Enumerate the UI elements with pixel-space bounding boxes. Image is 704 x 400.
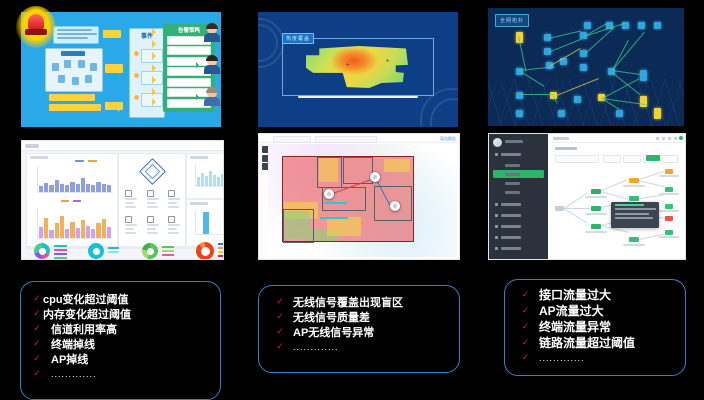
- traffic-alerts: ✓ 接口流量过大 ✓ AP流量过大 ✓ 终端流量异常 ✓ 链路流量超过阈值 ✓ …: [504, 279, 686, 376]
- check-icon: ✓: [273, 296, 287, 307]
- network-topology-app[interactable]: [488, 133, 686, 260]
- avatar: [204, 56, 220, 74]
- alert-item: ✓ AP掉线: [31, 351, 131, 366]
- check-icon: ✓: [31, 368, 43, 379]
- tree-node-error[interactable]: [665, 216, 673, 221]
- sidebar-item-settings[interactable]: [493, 233, 544, 241]
- tree-node-leaf[interactable]: [665, 169, 673, 174]
- sidebar-item-devices[interactable]: [493, 161, 544, 169]
- alert-item-ellipsis: ✓ .............: [31, 366, 131, 381]
- tree-node[interactable]: [629, 237, 639, 242]
- alert-item: ✓ 终端流量异常: [519, 318, 635, 334]
- stage-label-3: [49, 94, 95, 101]
- ellipsis-text: .............: [51, 369, 97, 379]
- alert-item: ✓ cpu变化超过阈值: [31, 291, 131, 306]
- topology-tag: 全网拓扑: [495, 14, 529, 27]
- topology-filter-bar[interactable]: [555, 155, 678, 161]
- access-point[interactable]: [390, 201, 400, 211]
- donut-group-2[interactable]: [88, 243, 104, 259]
- wifi-heatmap-slide: 热度覆盖 ✛ ✛ ✛: [258, 12, 458, 127]
- alert-text: 接口流量过大: [539, 286, 611, 303]
- siren-alarm-icon: [16, 6, 56, 48]
- sidebar-item-performance[interactable]: [493, 211, 544, 219]
- ellipsis-text: .............: [539, 353, 585, 363]
- check-icon: ✓: [273, 326, 287, 337]
- heatmap-baseline: [298, 96, 418, 98]
- alert-item: ✓ 接口流量过大: [519, 286, 635, 302]
- ellipsis-text: .............: [293, 342, 339, 352]
- alert-text: 内存变化超过阈值: [43, 306, 131, 322]
- wireless-alerts: ✓ 无线信号覆盖出现盲区 ✓ 无线信号质量差 ✓ AP无线信号异常 ✓ ....…: [258, 285, 460, 373]
- check-icon: ✓: [519, 305, 532, 316]
- dashboard-card-devices[interactable]: [118, 153, 186, 247]
- dashboard-topbar: [22, 141, 223, 151]
- sidebar-item-traffic[interactable]: [493, 200, 544, 208]
- sidebar-item-logs[interactable]: [493, 222, 544, 230]
- donut-group-3[interactable]: [142, 243, 158, 259]
- alert-text: 无线信号覆盖出现盲区: [293, 294, 403, 310]
- screenshot-root: 事件 自动发现并关联分析定位故障点 ops-flow-diagram 告警策略: [0, 0, 704, 400]
- check-icon: ✓: [519, 352, 532, 363]
- sidebar-item-alarms[interactable]: [493, 188, 544, 196]
- alert-item: ✓ AP流量过大: [519, 302, 635, 318]
- floorplan-toolbar[interactable]: 导出报告: [259, 134, 459, 143]
- network-topology-slide: 全网拓扑: [488, 8, 684, 126]
- export-button[interactable]: [662, 155, 678, 163]
- monitoring-dashboard[interactable]: [21, 140, 224, 260]
- check-icon: ✓: [519, 337, 532, 348]
- alert-item: ✓ AP无线信号异常: [273, 324, 403, 339]
- avatar: [204, 24, 220, 42]
- alert-text: 终端掉线: [51, 336, 95, 352]
- dashboard-card-traffic[interactable]: [26, 153, 118, 247]
- alert-item: ✓ 信道利用率高: [31, 321, 131, 336]
- stage-label-5: [105, 102, 123, 110]
- check-icon: ✓: [273, 341, 287, 352]
- it-asset-box: [45, 48, 103, 92]
- stage-label-2: [105, 64, 123, 73]
- app-name: [505, 140, 523, 143]
- check-icon: ✓: [273, 311, 287, 322]
- alert-item: ✓ 内存变化超过阈值: [31, 306, 131, 321]
- alert-text: 信道利用率高: [51, 321, 117, 337]
- export-report-link[interactable]: 导出报告: [440, 136, 456, 142]
- tree-node[interactable]: [591, 189, 601, 194]
- strategy-inbound-arrows: [152, 26, 164, 110]
- role-avatars: [196, 22, 222, 114]
- alert-item: ✓ 终端掉线: [31, 336, 131, 351]
- dashboard-card-ports[interactable]: [186, 199, 224, 247]
- performance-alerts: ✓ cpu变化超过阈值 ✓ 内存变化超过阈值 ✓ 信道利用率高 ✓ 终端掉线 ✓…: [20, 281, 221, 400]
- access-point[interactable]: [370, 172, 380, 182]
- logo: [25, 144, 39, 148]
- tree-node[interactable]: [591, 206, 601, 211]
- floorplan-canvas[interactable]: [268, 144, 457, 257]
- check-icon: ✓: [31, 353, 43, 364]
- alert-item-ellipsis: ✓ .............: [519, 350, 635, 365]
- alert-text: AP流量过大: [539, 302, 604, 319]
- tree-node-leaf[interactable]: [665, 204, 673, 209]
- check-icon: ✓: [31, 308, 43, 319]
- tree-node[interactable]: [629, 196, 639, 201]
- topology-body[interactable]: [551, 144, 682, 256]
- tree-node-leaf[interactable]: [665, 187, 673, 192]
- alert-text: AP掉线: [51, 351, 88, 367]
- sidebar-item-topology[interactable]: [493, 170, 544, 178]
- alert-text: 链路流量超过阈值: [539, 334, 635, 351]
- tree-node-warning[interactable]: [629, 178, 639, 183]
- tree-node-root[interactable]: [555, 206, 564, 211]
- topology-page-title: [555, 147, 577, 150]
- topology-sidebar[interactable]: [489, 134, 548, 259]
- alert-item: ✓ 无线信号覆盖出现盲区: [273, 294, 403, 309]
- topology-header: [548, 134, 685, 143]
- alert-item-ellipsis: ✓ .............: [273, 339, 403, 354]
- check-icon: ✓: [31, 338, 43, 349]
- check-icon: ✓: [519, 321, 532, 332]
- donut-group-1[interactable]: [34, 243, 50, 259]
- alert-text: 无线信号质量差: [293, 309, 370, 325]
- alert-text: 终端流量异常: [539, 318, 611, 335]
- app-logo: [493, 138, 502, 147]
- check-icon: ✓: [31, 293, 43, 304]
- note-bubble-1: [53, 26, 99, 44]
- alert-text: cpu变化超过阈值: [43, 291, 129, 307]
- sidebar-item-network[interactable]: [493, 150, 544, 158]
- access-point[interactable]: [324, 189, 334, 199]
- alert-item: ✓ 链路流量超过阈值: [519, 334, 635, 350]
- dashboard-card-bandwidth[interactable]: [186, 153, 224, 199]
- stage-label-1: [103, 30, 121, 38]
- heatmap-tag: 热度覆盖: [282, 33, 314, 44]
- tree-node-leaf[interactable]: [665, 230, 673, 235]
- wifi-coverage-floorplan[interactable]: 导出报告: [258, 133, 460, 260]
- donut-group-4[interactable]: [196, 242, 214, 260]
- avatar: [204, 88, 220, 106]
- alert-item: ✓ 无线信号质量差: [273, 309, 403, 324]
- refresh-button[interactable]: [646, 155, 660, 161]
- check-icon: ✓: [519, 289, 532, 300]
- check-icon: ✓: [31, 323, 43, 334]
- device-detail-tooltip: [611, 202, 659, 228]
- sidebar-item-reports[interactable]: [493, 244, 544, 252]
- alert-text: AP无线信号异常: [293, 324, 374, 340]
- floorplan-outline: [282, 156, 414, 242]
- stage-label-4: [49, 104, 101, 111]
- sidebar-item-links[interactable]: [493, 179, 544, 187]
- tree-node[interactable]: [591, 224, 601, 229]
